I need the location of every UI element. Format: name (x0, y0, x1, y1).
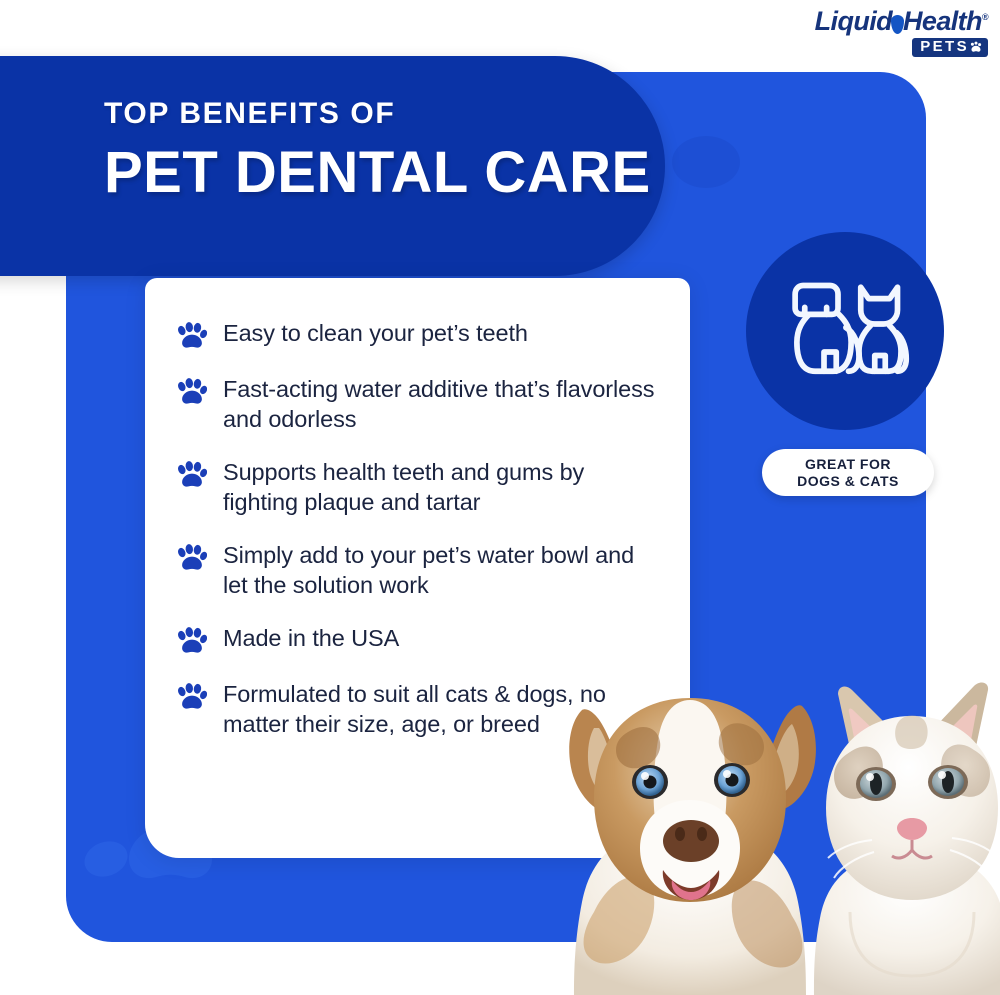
benefit-text: Made in the USA (223, 623, 399, 653)
paw-icon (177, 543, 207, 573)
header-text-group: TOP BENEFITS OF PET DENTAL CARE (104, 97, 651, 203)
paw-icon (177, 682, 207, 712)
pet-photo-illustration (520, 612, 1000, 995)
paw-icon (177, 460, 207, 490)
paw-icon (177, 626, 207, 656)
benefit-text: Simply add to your pet’s water bowl and … (223, 540, 664, 600)
cat-left-eye (856, 767, 896, 801)
long-haired-cream-cat (814, 683, 1000, 995)
list-item: Supports health teeth and gums by fighti… (177, 457, 664, 517)
kicker-text: TOP BENEFITS OF (104, 97, 651, 131)
trademark-symbol: ® (982, 12, 988, 22)
paw-icon (970, 41, 982, 53)
cat-right-eye (928, 765, 968, 799)
paw-icon (666, 127, 746, 197)
dog-right-eye (714, 763, 750, 797)
dog-left-eye (632, 765, 668, 799)
logo-text-health: Health (903, 6, 982, 36)
paw-icon (177, 377, 207, 407)
benefit-text: Fast-acting water additive that’s flavor… (223, 374, 664, 434)
australian-shepherd-dog (569, 698, 816, 995)
badge-line-1: GREAT FOR (805, 456, 891, 473)
logo-pets-badge: PETS (912, 38, 988, 57)
logo-pets-label: PETS (920, 38, 969, 55)
list-item: Easy to clean your pet’s teeth (177, 318, 664, 351)
benefit-text: Easy to clean your pet’s teeth (223, 318, 528, 348)
benefit-text: Supports health teeth and gums by fighti… (223, 457, 664, 517)
list-item: Simply add to your pet’s water bowl and … (177, 540, 664, 600)
paw-icon (177, 321, 207, 351)
brand-logo[interactable]: LiquidHealth® PETS (813, 4, 988, 50)
dog-and-cat-icon (779, 275, 911, 387)
dog-and-cat-icon-badge (746, 232, 944, 430)
logo-text-liquid: Liquid (815, 6, 892, 36)
logo-wordmark: LiquidHealth® (813, 4, 988, 35)
list-item: Fast-acting water additive that’s flavor… (177, 374, 664, 434)
page-title: PET DENTAL CARE (104, 143, 651, 203)
infographic-root: TOP BENEFITS OF PET DENTAL CARE LiquidHe… (0, 0, 1000, 995)
badge-line-2: DOGS & CATS (797, 473, 899, 490)
status-badge: GREAT FOR DOGS & CATS (762, 449, 934, 496)
dog-and-cat-photo (520, 612, 1000, 995)
